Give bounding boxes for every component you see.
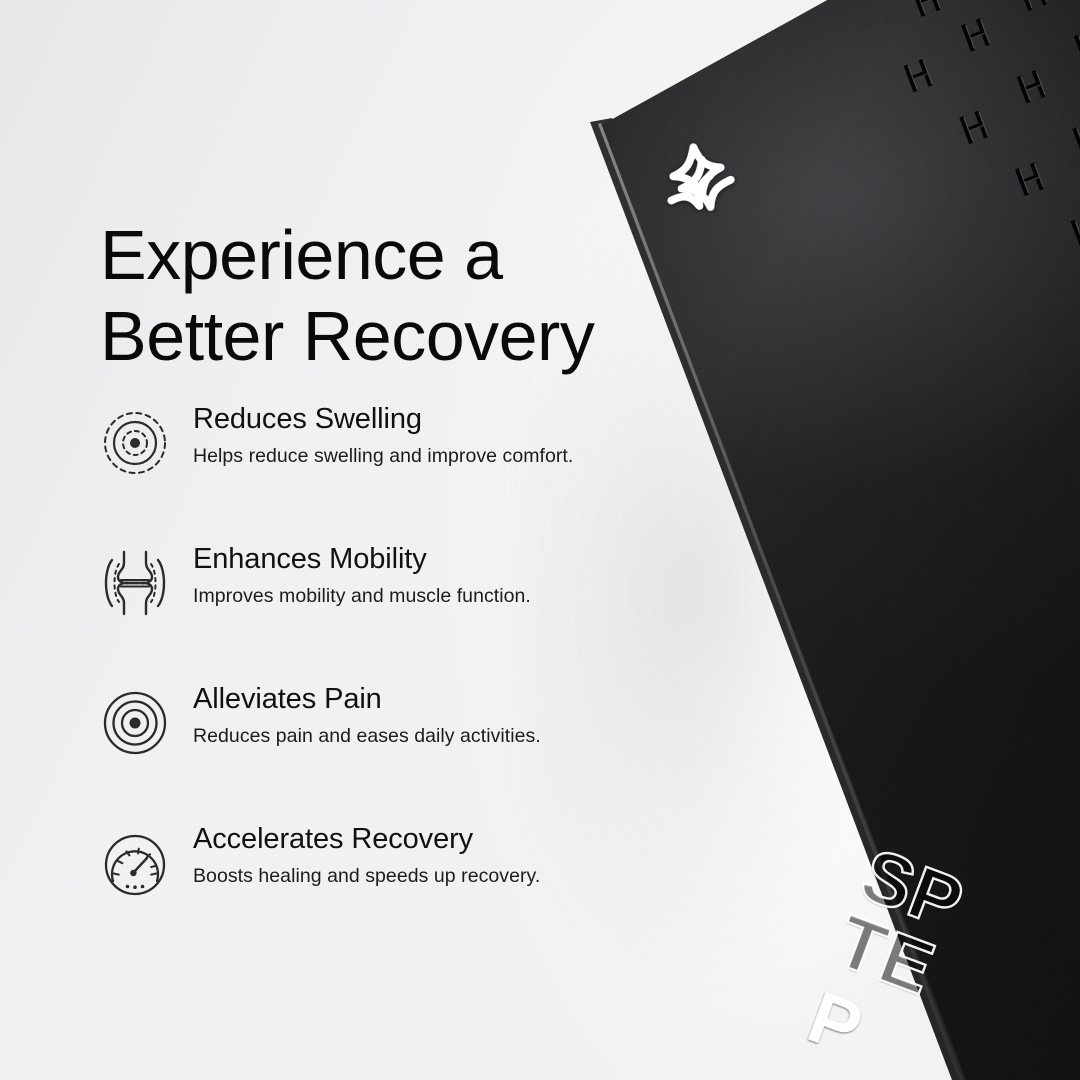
feature-item-reduces-swelling: Reduces Swelling Helps reduce swelling a… bbox=[100, 404, 640, 496]
joint-mobility-icon bbox=[100, 548, 170, 618]
feature-item-alleviates-pain: Alleviates Pain Reduces pain and eases d… bbox=[100, 684, 640, 776]
feature-item-enhances-mobility: Enhances Mobility Improves mobility and … bbox=[100, 544, 640, 636]
feature-title: Reduces Swelling bbox=[193, 404, 640, 436]
feature-title: Alleviates Pain bbox=[193, 684, 640, 716]
swelling-rings-icon bbox=[100, 408, 170, 478]
bullseye-target-icon bbox=[100, 688, 170, 758]
feature-description: Helps reduce swelling and improve comfor… bbox=[193, 444, 640, 468]
headline-line-2: Better Recovery bbox=[100, 296, 640, 377]
feature-item-accelerates-recovery: Accelerates Recovery Boosts healing and … bbox=[100, 824, 640, 916]
feature-description: Boosts healing and speeds up recovery. bbox=[193, 864, 640, 888]
feature-description: Reduces pain and eases daily activities. bbox=[193, 724, 640, 748]
content-column: Experience a Better Recovery Reduces bbox=[0, 0, 640, 1080]
feature-title: Accelerates Recovery bbox=[193, 824, 640, 856]
page-title: Experience a Better Recovery bbox=[100, 215, 640, 377]
feature-description: Improves mobility and muscle function. bbox=[193, 584, 640, 608]
feature-list: Reduces Swelling Helps reduce swelling a… bbox=[100, 404, 640, 916]
speedometer-gauge-icon bbox=[100, 828, 170, 898]
headline-line-1: Experience a bbox=[100, 215, 640, 296]
feature-title: Enhances Mobility bbox=[193, 544, 640, 576]
promo-image: SP TE P Experience a Better Recovery bbox=[0, 0, 1080, 1080]
